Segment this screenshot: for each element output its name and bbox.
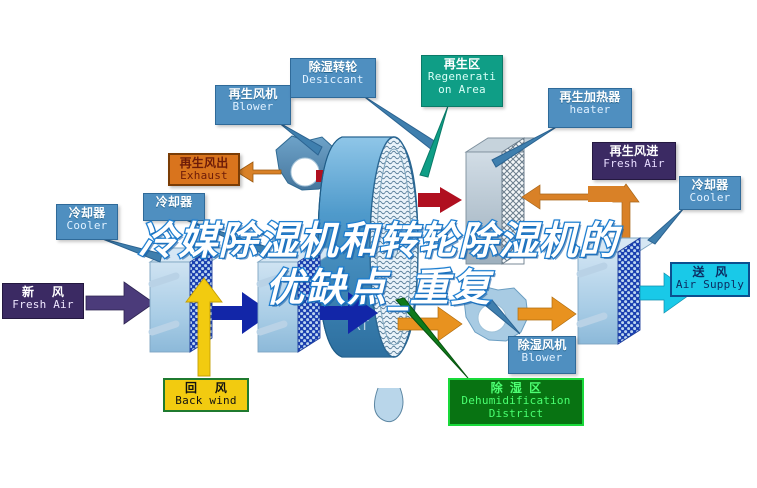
callout-exhaust-cn: 再生风出	[170, 157, 238, 170]
intake-arrow	[86, 282, 154, 324]
callout-regen-area-en: Regenerati on Area	[422, 71, 502, 96]
callout-fresh-air-regen: 再生风进Fresh Air	[592, 142, 676, 180]
callout-cooler-mid: 冷却器	[143, 193, 205, 221]
callout-cooler-right-cn: 冷却器	[680, 179, 740, 192]
callout-regen-heater-en: heater	[549, 104, 631, 116]
callout-regen-heater: 再生加热器heater	[548, 88, 632, 128]
callout-air-supply: 送 风Air Supply	[670, 262, 750, 297]
callout-cooler-right: 冷却器Cooler	[679, 176, 741, 210]
callout-regen-area-cn: 再生区	[422, 58, 502, 71]
callout-air-supply-en: Air Supply	[672, 279, 748, 291]
callout-dehum-blower-cn: 除湿风机	[509, 339, 575, 352]
desiccant-rotor	[318, 137, 418, 422]
callout-dehum-blower: 除湿风机Blower	[508, 336, 576, 374]
callout-fresh-air-left: 新 风Fresh Air	[2, 283, 84, 319]
callout-dehum-district: 除 湿 区Dehumidification District	[448, 378, 584, 426]
callout-fresh-air-left-cn: 新 风	[3, 286, 83, 299]
dehumidifier-schematic: XT	[0, 0, 757, 488]
callout-back-wind-cn: 回 风	[165, 382, 247, 395]
exhaust-arrow	[237, 162, 281, 182]
callout-desiccant-cn: 除湿转轮	[291, 61, 375, 74]
callout-desiccant: 除湿转轮Desiccant	[290, 58, 376, 98]
callout-air-supply-cn: 送 风	[672, 266, 748, 279]
callout-exhaust: 再生风出Exhaust	[168, 153, 240, 186]
regen-hot-arrow-2	[418, 187, 462, 213]
callout-regen-blower: 再生风机Blower	[215, 85, 291, 125]
callout-desiccant-en: Desiccant	[291, 74, 375, 86]
callout-dehum-district-cn: 除 湿 区	[450, 382, 582, 395]
callout-regen-area: 再生区Regenerati on Area	[421, 55, 503, 107]
diagram-canvas: XT	[0, 0, 757, 488]
callout-regen-blower-cn: 再生风机	[216, 88, 290, 101]
callout-fresh-air-regen-cn: 再生风进	[593, 145, 675, 158]
callout-back-wind-en: Back wind	[165, 395, 247, 407]
callout-regen-heater-cn: 再生加热器	[549, 91, 631, 104]
callout-fresh-air-left-en: Fresh Air	[3, 299, 83, 311]
callout-cooler-mid-cn: 冷却器	[144, 196, 204, 209]
callout-back-wind: 回 风Back wind	[163, 378, 249, 412]
callout-cooler-left: 冷却器Cooler	[56, 204, 118, 240]
callout-regen-blower-en: Blower	[216, 101, 290, 113]
callout-dehum-district-en: Dehumidification District	[450, 395, 582, 420]
callout-dehum-blower-en: Blower	[509, 352, 575, 364]
callout-fresh-air-regen-en: Fresh Air	[593, 158, 675, 170]
callout-cooler-right-en: Cooler	[680, 192, 740, 204]
callout-exhaust-en: Exhaust	[170, 170, 238, 182]
callout-cooler-left-cn: 冷却器	[57, 207, 117, 220]
callout-cooler-left-en: Cooler	[57, 220, 117, 232]
